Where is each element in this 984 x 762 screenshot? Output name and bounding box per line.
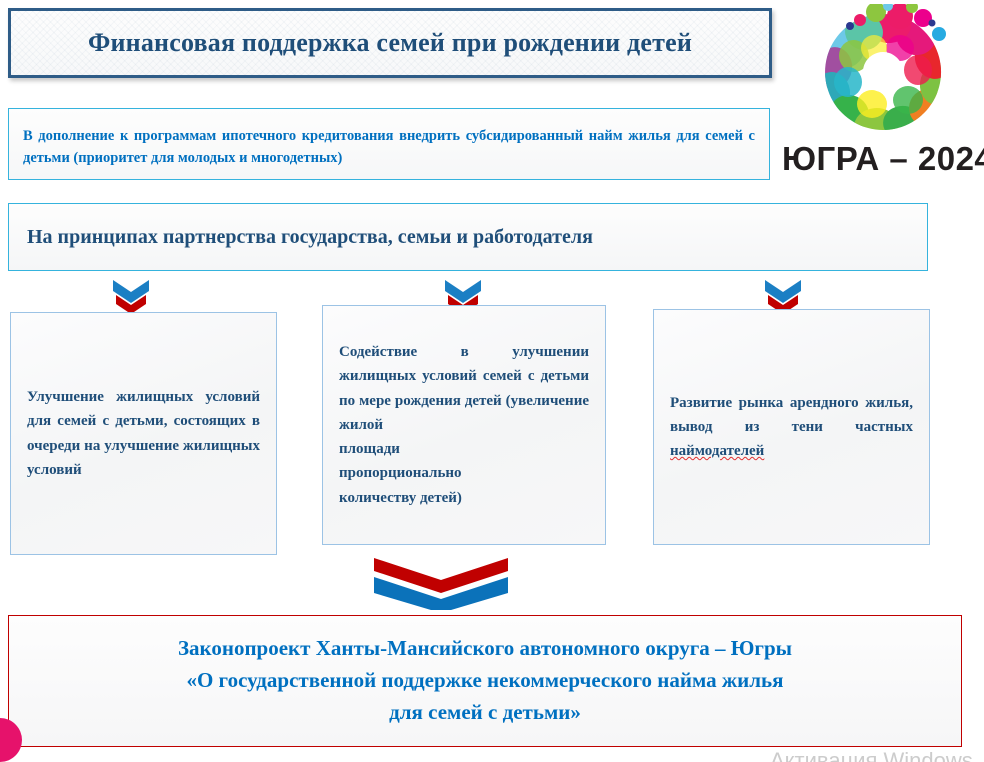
- chevron-down-icon-1: [110, 278, 152, 316]
- ugra-ring-icon: [804, 4, 962, 144]
- principles-banner-text: На принципах партнерства государства, се…: [27, 226, 593, 249]
- card-rental-market: Развитие рынка арендного жилья, вывод из…: [653, 309, 930, 545]
- intro-banner-text: В дополнение к программам ипотечного кре…: [23, 125, 755, 170]
- card-housing-queue: Улучшение жилищных условий для семей с д…: [10, 312, 277, 555]
- card-rental-market-misspelled-word: наймодателей: [670, 443, 764, 459]
- logo-caption: ЮГРА – 2024: [782, 140, 984, 178]
- card-housing-queue-text: Улучшение жилищных условий для семей с д…: [11, 385, 276, 482]
- card-rental-market-text-main: Развитие рынка арендного жилья, вывод из…: [670, 395, 913, 435]
- ugra-logo: ЮГРА – 2024: [782, 2, 984, 190]
- page-title: Финансовая поддержка семей при рождении …: [88, 28, 692, 58]
- windows-activation-watermark: Активация Windows: [770, 750, 984, 762]
- footer-law-box: Законопроект Ханты-Мансийского автономно…: [8, 615, 962, 747]
- principles-banner: На принципах партнерства государства, се…: [8, 203, 928, 271]
- intro-banner: В дополнение к программам ипотечного кре…: [8, 108, 770, 180]
- card-housing-improvement-text: Содействие в улучшении жилищных условий …: [323, 340, 605, 510]
- footer-law-text: Законопроект Ханты-Мансийского автономно…: [178, 633, 792, 729]
- chevron-down-icon-large: [374, 558, 508, 610]
- card-housing-improvement: Содействие в улучшении жилищных условий …: [322, 305, 606, 545]
- card-rental-market-text: Развитие рынка арендного жилья, вывод из…: [654, 391, 929, 464]
- slide-title-box: Финансовая поддержка семей при рождении …: [8, 8, 772, 78]
- windows-activation-watermark-line: Активация Windows: [770, 750, 984, 762]
